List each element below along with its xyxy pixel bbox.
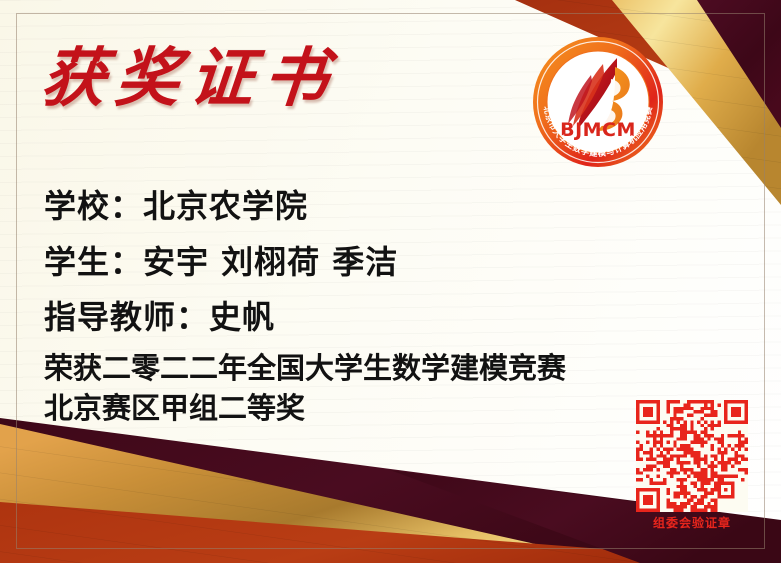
certificate-canvas: 获奖证书 bbox=[0, 0, 781, 563]
verification-stamp: 组委会验证章 bbox=[628, 400, 756, 531]
field-students: 学生：安宇 刘栩荷 季洁 bbox=[44, 234, 744, 290]
seal-acronym: BJMCM bbox=[560, 119, 636, 141]
field-school: 学校：北京农学院 bbox=[44, 178, 744, 234]
field-advisor: 指导教师：史帆 bbox=[44, 290, 744, 344]
bjmcm-logo-seal: BJMCM 北京市大学生数学建模与计算机应用竞赛 bbox=[531, 35, 665, 169]
verification-caption: 组委会验证章 bbox=[628, 514, 756, 531]
certificate-body: 学校：北京农学院 学生：安宇 刘栩荷 季洁 指导教师：史帆 荣获二零二二年全国大… bbox=[44, 178, 744, 428]
page-title: 获奖证书 bbox=[38, 27, 342, 119]
award-statement-1: 荣获二零二二年全国大学生数学建模竞赛 bbox=[44, 348, 744, 388]
qr-code-icon bbox=[628, 400, 756, 512]
